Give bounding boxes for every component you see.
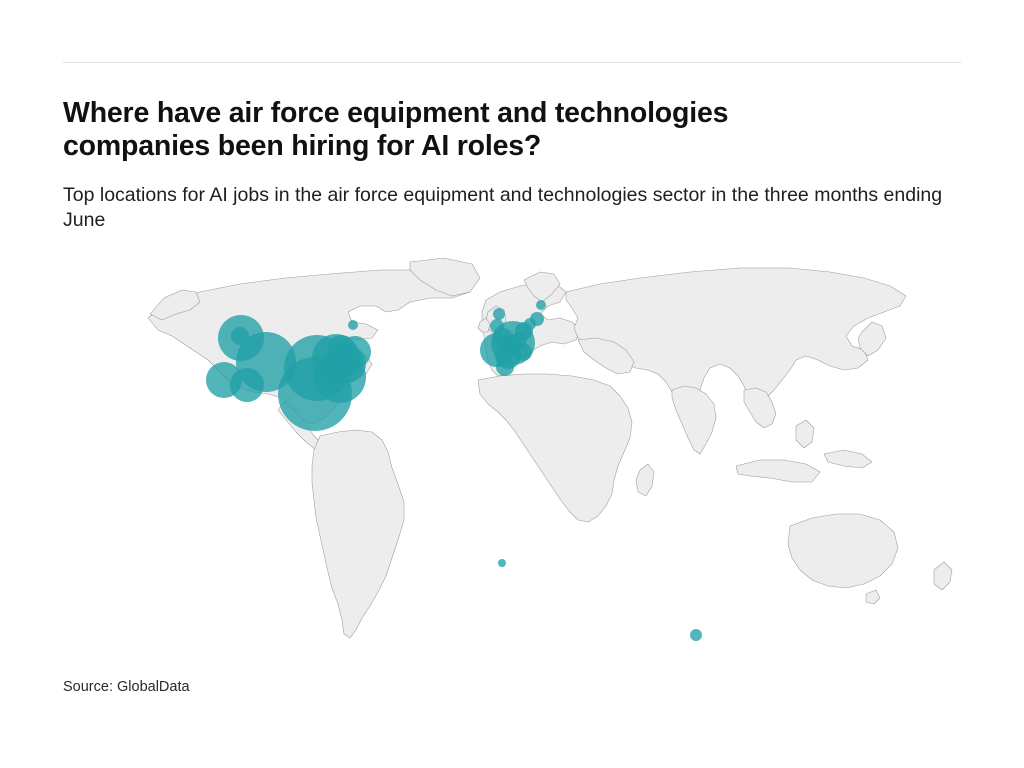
land-tasmania bbox=[866, 590, 880, 604]
map-bubble bbox=[690, 629, 702, 641]
land-new-zealand bbox=[934, 562, 952, 590]
land-australia bbox=[788, 514, 898, 588]
map-bubble bbox=[493, 308, 505, 320]
land-africa bbox=[478, 374, 632, 522]
land-indonesia bbox=[736, 460, 820, 482]
land-asia bbox=[566, 268, 906, 406]
page-title: Where have air force equipment and techn… bbox=[63, 97, 863, 164]
map-bubble bbox=[498, 559, 506, 567]
map-bubble bbox=[348, 320, 358, 330]
page-subtitle: Top locations for AI jobs in the air for… bbox=[63, 183, 953, 234]
land-madagascar bbox=[636, 464, 654, 496]
world-bubble-map bbox=[0, 240, 1024, 660]
map-bubble bbox=[536, 300, 546, 310]
header-divider bbox=[63, 62, 961, 63]
land-new-guinea bbox=[824, 450, 872, 468]
map-bubble bbox=[339, 336, 371, 368]
land-south-america bbox=[312, 430, 404, 638]
map-canvas bbox=[0, 240, 1024, 660]
map-landmasses bbox=[148, 258, 952, 638]
land-india bbox=[672, 386, 716, 454]
infographic-page: Where have air force equipment and techn… bbox=[0, 0, 1024, 768]
map-bubble bbox=[230, 368, 264, 402]
source-attribution: Source: GlobalData bbox=[63, 679, 190, 695]
land-philippines bbox=[796, 420, 814, 448]
land-southeast-asia bbox=[744, 388, 776, 428]
map-bubble bbox=[491, 321, 535, 365]
